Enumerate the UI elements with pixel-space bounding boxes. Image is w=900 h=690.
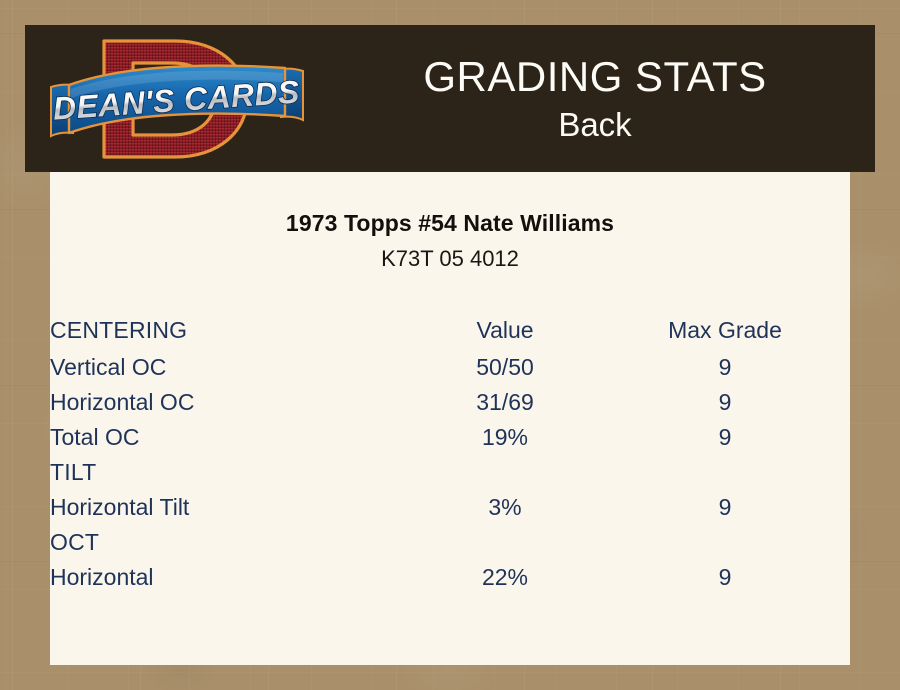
table-row: Horizontal OC31/699 (50, 385, 850, 420)
section-spacer-value (410, 455, 600, 490)
stat-value: 3% (410, 490, 600, 525)
table-row: Horizontal22%9 (50, 560, 850, 595)
stat-label: Total OC (50, 420, 410, 455)
stat-max-grade: 9 (600, 420, 850, 455)
table-header-row: CENTERINGValueMax Grade (50, 310, 850, 350)
content-panel: 1973 Topps #54 Nate Williams K73T 05 401… (50, 172, 850, 665)
stat-label: Vertical OC (50, 350, 410, 385)
section-header-centering: CENTERING (50, 310, 410, 350)
stat-max-grade: 9 (600, 350, 850, 385)
section-header-oct: OCT (50, 525, 410, 560)
table-section-row: TILT (50, 455, 850, 490)
table-row: Total OC19%9 (50, 420, 850, 455)
page-subtitle: Back (558, 104, 631, 146)
section-header-tilt: TILT (50, 455, 410, 490)
card-title: 1973 Topps #54 Nate Williams (50, 210, 850, 237)
stat-value: 22% (410, 560, 600, 595)
column-header-value: Value (410, 310, 600, 350)
stat-max-grade: 9 (600, 490, 850, 525)
stat-max-grade: 9 (600, 560, 850, 595)
table-row: Vertical OC50/509 (50, 350, 850, 385)
deans-cards-logo-icon: DEAN'S CARDS (47, 29, 307, 169)
stat-value: 50/50 (410, 350, 600, 385)
column-header-max-grade: Max Grade (600, 310, 850, 350)
card-code: K73T 05 4012 (50, 246, 850, 272)
header-title-group: GRADING STATS Back (315, 25, 875, 172)
stat-label: Horizontal OC (50, 385, 410, 420)
stat-label: Horizontal (50, 560, 410, 595)
stat-value: 31/69 (410, 385, 600, 420)
grading-stats-table: CENTERINGValueMax GradeVertical OC50/509… (50, 310, 850, 595)
section-spacer-value (410, 525, 600, 560)
stat-value: 19% (410, 420, 600, 455)
stat-max-grade: 9 (600, 385, 850, 420)
stat-label: Horizontal Tilt (50, 490, 410, 525)
table-section-row: OCT (50, 525, 850, 560)
deans-cards-logo: DEAN'S CARDS (47, 29, 307, 169)
section-spacer-grade (600, 455, 850, 490)
table-row: Horizontal Tilt3%9 (50, 490, 850, 525)
header-bar: DEAN'S CARDS GRADING STATS Back (25, 25, 875, 172)
section-spacer-grade (600, 525, 850, 560)
page-title: GRADING STATS (423, 52, 766, 102)
